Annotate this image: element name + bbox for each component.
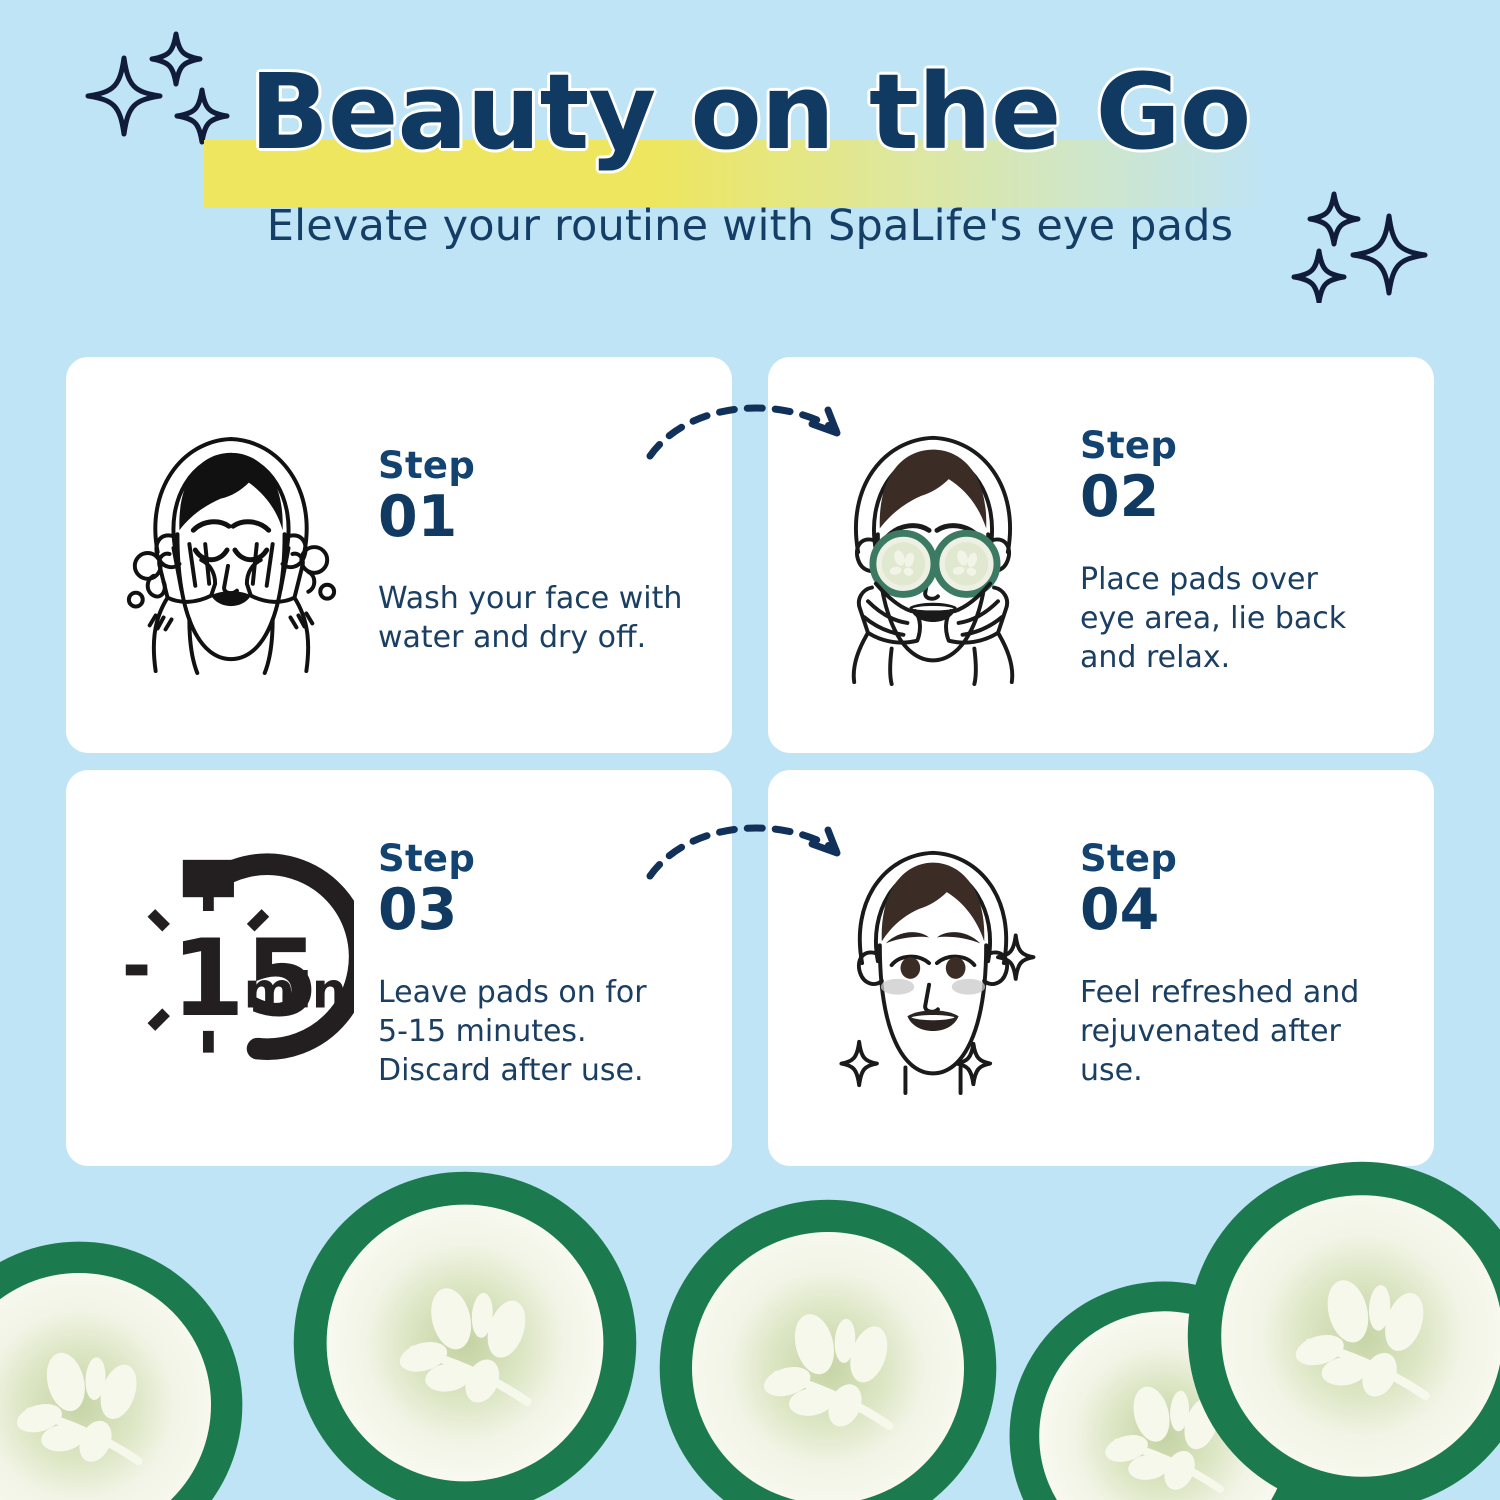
step-text-01: Step 01 Wash your face with water and dr… <box>362 447 706 664</box>
step-description: Leave pads on for 5-15 minutes. Discard … <box>378 973 706 1090</box>
step-number: 03 <box>378 879 706 943</box>
timer-unit-label: mins <box>244 961 354 1019</box>
step-card-03[interactable]: 15 mins Step 03 Leave pads on for 5-15 m… <box>66 770 732 1166</box>
step-number: 04 <box>1080 879 1408 943</box>
step-label: Step <box>378 840 706 877</box>
cucumber-slices-strip <box>0 1140 1500 1500</box>
cucumber-eye-pad-slice <box>292 1170 638 1500</box>
stopwatch-15mins-icon: 15 mins <box>100 825 362 1111</box>
step-description: Feel refreshed and rejuvenated after use… <box>1080 973 1408 1090</box>
step-description: Place pads over eye area, lie back and r… <box>1080 560 1408 677</box>
page-subtitle: Elevate your routine with SpaLife's eye … <box>250 201 1251 251</box>
step-label: Step <box>1080 840 1408 877</box>
step-description: Wash your face with water and dry off. <box>378 579 706 657</box>
step-card-01[interactable]: Step 01 Wash your face with water and dr… <box>66 357 732 753</box>
header: Beauty on the Go Elevate your routine wi… <box>0 58 1500 251</box>
step-label: Step <box>378 447 706 484</box>
page-title: Beauty on the Go <box>250 58 1251 167</box>
step-number: 02 <box>1080 466 1408 530</box>
step-card-02[interactable]: Step 02 Place pads over eye area, lie ba… <box>768 357 1434 753</box>
step-card-04[interactable]: Step 04 Feel refreshed and rejuvenated a… <box>768 770 1434 1166</box>
title-wrap: Beauty on the Go Elevate your routine wi… <box>232 58 1269 251</box>
infographic-page: Beauty on the Go Elevate your routine wi… <box>0 0 1500 1500</box>
step-label: Step <box>1080 427 1408 464</box>
face-washing-icon <box>100 412 362 698</box>
face-with-eye-pads-icon <box>802 412 1064 698</box>
cucumber-eye-pad-slice <box>658 1198 998 1500</box>
cucumber-eye-pad-slice <box>0 1240 244 1500</box>
step-text-03: Step 03 Leave pads on for 5-15 minutes. … <box>362 840 706 1096</box>
cucumber-eye-pad-slice <box>1186 1160 1500 1500</box>
step-number: 01 <box>378 486 706 550</box>
refreshed-face-sparkles-icon <box>802 825 1064 1111</box>
step-text-02: Step 02 Place pads over eye area, lie ba… <box>1064 427 1408 683</box>
step-text-04: Step 04 Feel refreshed and rejuvenated a… <box>1064 840 1408 1096</box>
